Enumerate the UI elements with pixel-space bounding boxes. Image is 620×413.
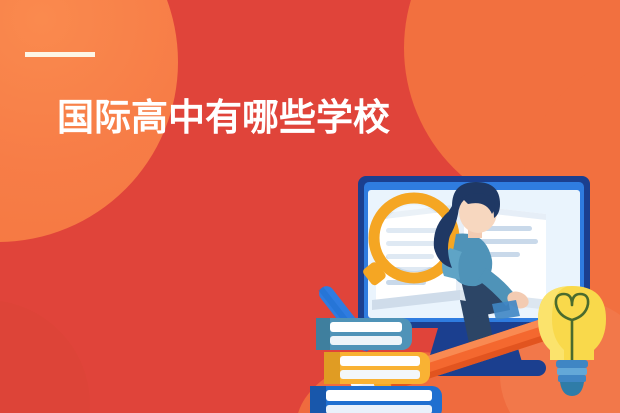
accent-rule: [25, 52, 95, 57]
stacked-books-icon: [310, 318, 442, 413]
page-title: 国际高中有哪些学校: [57, 99, 390, 136]
study-research-illustration: [310, 168, 620, 413]
banner-canvas: 国际高中有哪些学校: [0, 0, 620, 413]
background-blob-bottom-left: [0, 300, 90, 413]
lightbulb-icon: [538, 286, 606, 396]
